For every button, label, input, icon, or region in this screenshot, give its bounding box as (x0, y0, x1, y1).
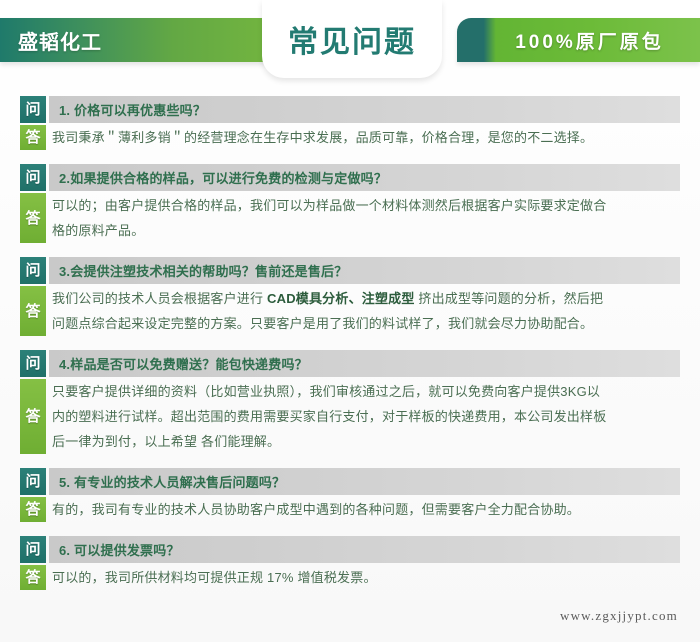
answer-line: 后一律为到付，以上希望 各们能理解。 (52, 429, 680, 454)
answer-row: 答 我司秉承＂薄利多销＂的经营理念在生存中求发展，品质可靠，价格合理，是您的不二… (20, 125, 680, 150)
question-bar: 4.样品是否可以免费赠送？能包快递费吗？ (49, 350, 680, 377)
answer-line: 内的塑料进行试样。超出范围的费用需要买家自行支付，对于样板的快递费用，本公司发出… (52, 404, 680, 429)
site-watermark: www.zgxjjypt.com (560, 608, 678, 624)
question-row: 问 5. 有专业的技术人员解决售后问题吗？ (20, 468, 680, 495)
answer-badge: 答 (20, 193, 46, 243)
answer-row: 答 有的，我司有专业的技术人员协助客户成型中遇到的各种问题，但需要客户全力配合协… (20, 497, 680, 522)
question-bar: 6. 可以提供发票吗？ (49, 536, 680, 563)
question-row: 问 1. 价格可以再优惠些吗？ (20, 96, 680, 123)
answer-text: 可以的；由客户提供合格的样品，我们可以为样品做一个材料体测然后根据客户实际要求定… (52, 193, 680, 243)
answer-row: 答 可以的；由客户提供合格的样品，我们可以为样品做一个材料体测然后根据客户实际要… (20, 193, 680, 243)
question-text: 2.如果提供合格的样品，可以进行免费的检测与定做吗？ (59, 168, 387, 187)
answer-text: 可以的，我司所供材料均可提供正规 17% 增值税发票。 (52, 565, 680, 590)
question-badge: 问 (20, 468, 46, 495)
faq-item: 问 5. 有专业的技术人员解决售后问题吗？ 答 有的，我司有专业的技术人员协助客… (20, 468, 680, 522)
faq-item: 问 4.样品是否可以免费赠送？能包快递费吗？ 答 只要客户提供详细的资料（比如营… (20, 350, 680, 454)
answer-badge: 答 (20, 379, 46, 454)
question-row: 问 2.如果提供合格的样品，可以进行免费的检测与定做吗？ (20, 164, 680, 191)
question-badge: 问 (20, 257, 46, 284)
company-name-text: 盛韬化工 (18, 26, 102, 55)
answer-badge: 答 (20, 565, 46, 590)
answer-row: 答 只要客户提供详细的资料（比如营业执照），我们审核通过之后，就可以免费向客户提… (20, 379, 680, 454)
question-badge: 问 (20, 350, 46, 377)
question-text: 6. 可以提供发票吗？ (59, 540, 180, 559)
question-row: 问 4.样品是否可以免费赠送？能包快递费吗？ (20, 350, 680, 377)
faq-item: 问 6. 可以提供发票吗？ 答 可以的，我司所供材料均可提供正规 17% 增值税… (20, 536, 680, 590)
question-text: 4.样品是否可以免费赠送？能包快递费吗？ (59, 354, 308, 373)
answer-text: 我们公司的技术人员会根据客户进行 CAD模具分析、注塑成型 挤出成型等问题的分析… (52, 286, 680, 336)
question-text: 3.会提供注塑技术相关的帮助吗？售前还是售后？ (59, 261, 347, 280)
faq-list: 问 1. 价格可以再优惠些吗？ 答 我司秉承＂薄利多销＂的经营理念在生存中求发展… (0, 90, 700, 590)
question-text: 5. 有专业的技术人员解决售后问题吗？ (59, 472, 285, 491)
answer-line: 只要客户提供详细的资料（比如营业执照），我们审核通过之后，就可以免费向客户提供3… (52, 379, 680, 404)
company-name-banner: 盛韬化工 (0, 18, 280, 62)
answer-row: 答 可以的，我司所供材料均可提供正规 17% 增值税发票。 (20, 565, 680, 590)
answer-text: 我司秉承＂薄利多销＂的经营理念在生存中求发展，品质可靠，价格合理，是您的不二选择… (52, 125, 680, 150)
promo-banner: 100%原厂原包 (457, 18, 700, 62)
question-bar: 3.会提供注塑技术相关的帮助吗？售前还是售后？ (49, 257, 680, 284)
answer-line: 可以的，我司所供材料均可提供正规 17% 增值税发票。 (52, 565, 680, 590)
answer-badge: 答 (20, 125, 46, 150)
question-bar: 5. 有专业的技术人员解决售后问题吗？ (49, 468, 680, 495)
answer-line: 格的原料产品。 (52, 218, 680, 243)
answer-text: 只要客户提供详细的资料（比如营业执照），我们审核通过之后，就可以免费向客户提供3… (52, 379, 680, 454)
answer-text: 有的，我司有专业的技术人员协助客户成型中遇到的各种问题，但需要客户全力配合协助。 (52, 497, 680, 522)
answer-line: 问题点综合起来设定完整的方案。只要客户是用了我们的料试样了，我们就会尽力协助配合… (52, 311, 680, 336)
answer-line: 有的，我司有专业的技术人员协助客户成型中遇到的各种问题，但需要客户全力配合协助。 (52, 497, 680, 522)
question-badge: 问 (20, 164, 46, 191)
question-text: 1. 价格可以再优惠些吗？ (59, 100, 206, 119)
page-title: 常见问题 (288, 17, 416, 61)
faq-item: 问 3.会提供注塑技术相关的帮助吗？售前还是售后？ 答 我们公司的技术人员会根据… (20, 257, 680, 336)
question-bar: 2.如果提供合格的样品，可以进行免费的检测与定做吗？ (49, 164, 680, 191)
question-badge: 问 (20, 96, 46, 123)
faq-page: 盛韬化工 100%原厂原包 常见问题 问 1. 价格可以再优惠些吗？ 答 我司秉… (0, 0, 700, 642)
page-header: 盛韬化工 100%原厂原包 常见问题 (0, 0, 700, 90)
question-badge: 问 (20, 536, 46, 563)
question-bar: 1. 价格可以再优惠些吗？ (49, 96, 680, 123)
answer-badge: 答 (20, 286, 46, 336)
question-row: 问 6. 可以提供发票吗？ (20, 536, 680, 563)
question-row: 问 3.会提供注塑技术相关的帮助吗？售前还是售后？ (20, 257, 680, 284)
promo-banner-text: 100%原厂原包 (493, 27, 664, 54)
page-title-plate: 常见问题 (262, 0, 442, 78)
answer-line: 可以的；由客户提供合格的样品，我们可以为样品做一个材料体测然后根据客户实际要求定… (52, 193, 680, 218)
answer-line: 我们公司的技术人员会根据客户进行 CAD模具分析、注塑成型 挤出成型等问题的分析… (52, 286, 680, 311)
answer-badge: 答 (20, 497, 46, 522)
answer-row: 答 我们公司的技术人员会根据客户进行 CAD模具分析、注塑成型 挤出成型等问题的… (20, 286, 680, 336)
faq-item: 问 1. 价格可以再优惠些吗？ 答 我司秉承＂薄利多销＂的经营理念在生存中求发展… (20, 96, 680, 150)
faq-item: 问 2.如果提供合格的样品，可以进行免费的检测与定做吗？ 答 可以的；由客户提供… (20, 164, 680, 243)
answer-line: 我司秉承＂薄利多销＂的经营理念在生存中求发展，品质可靠，价格合理，是您的不二选择… (52, 125, 680, 150)
